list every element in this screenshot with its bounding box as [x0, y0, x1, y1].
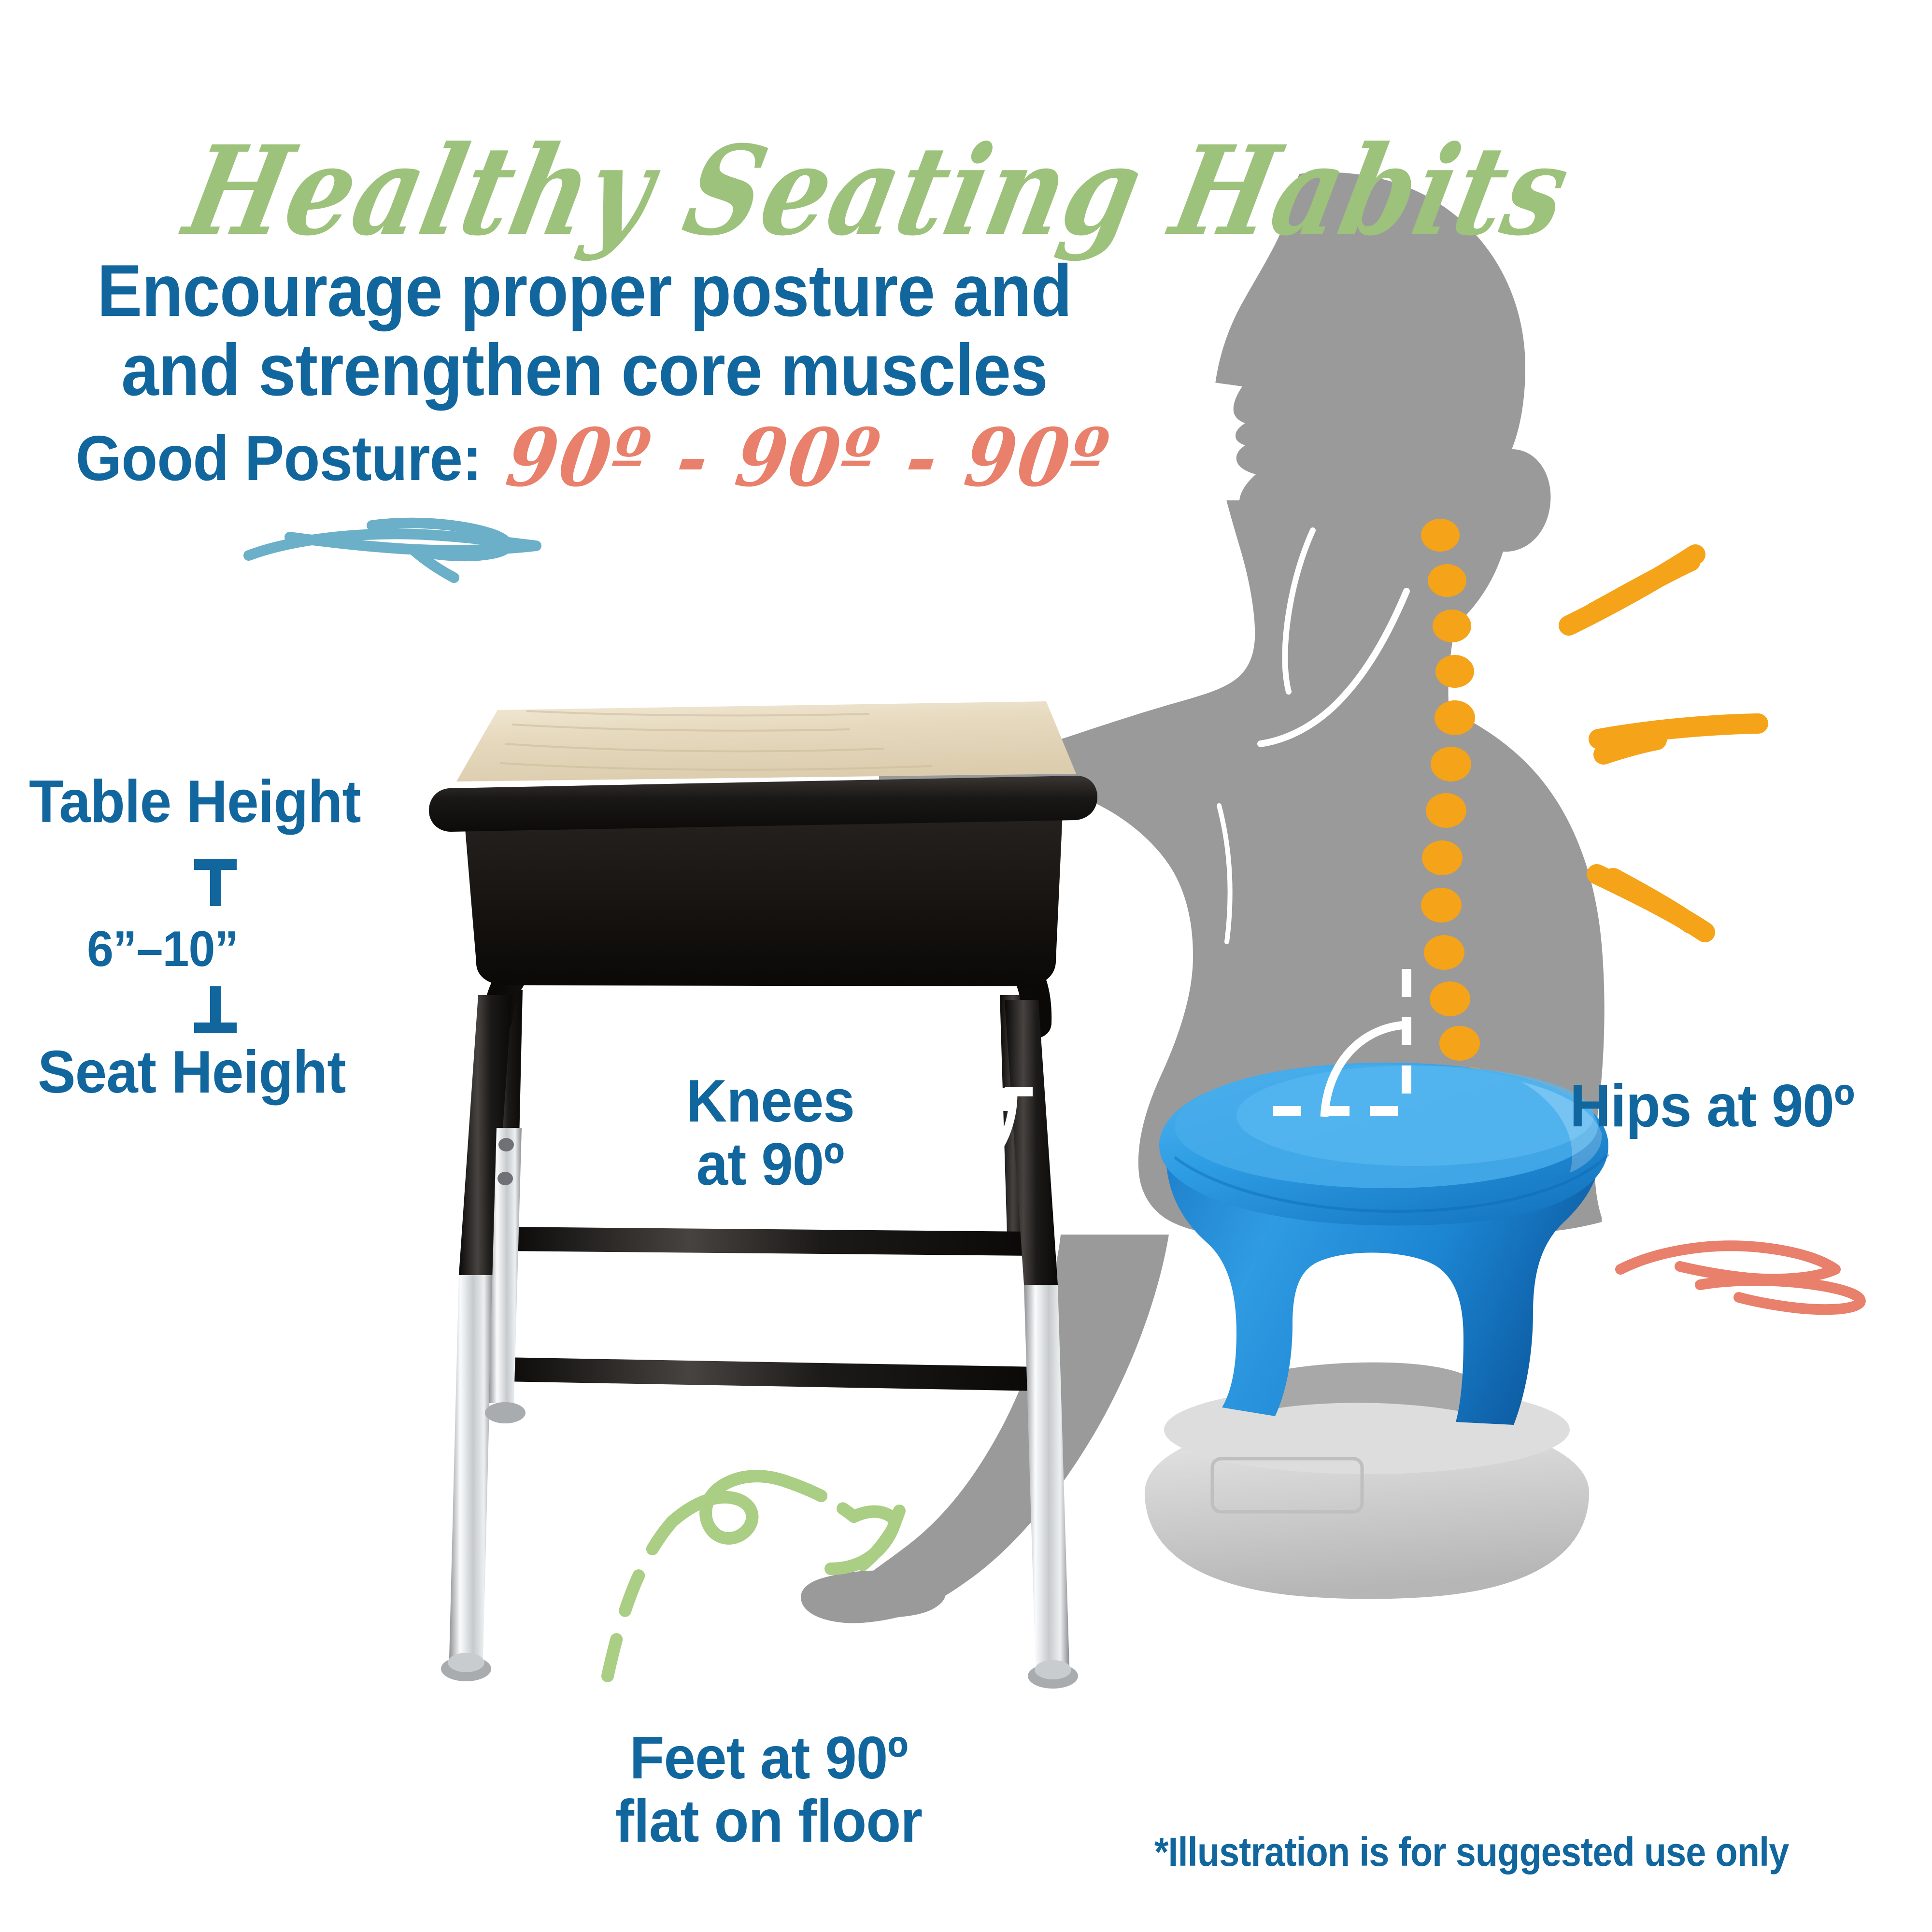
good-posture-angles: 90º - 90º - 90º	[501, 411, 1115, 505]
desk-glide-right	[1028, 1663, 1078, 1689]
desk-leg-front-right	[1005, 1000, 1058, 1285]
desk-book-box	[464, 811, 1063, 986]
salmon-squiggle-under-hips	[1620, 1246, 1861, 1309]
hips-angle-label: Hips at 90º	[1570, 1075, 1854, 1138]
knees-label-line-2: at 90º	[674, 1133, 867, 1196]
energy-strokes	[1569, 554, 1758, 932]
knees-label-line-1: Knees	[674, 1070, 867, 1133]
table-height-label: Table Height	[29, 770, 361, 834]
good-posture-label: Good Posture:	[75, 422, 481, 495]
energy-stroke-1	[1569, 554, 1695, 625]
feet-label-line-1: Feet at 90º	[599, 1727, 938, 1790]
subtitle: Encourage proper posture and and strengt…	[47, 251, 1122, 410]
desk-leg-back-right	[1000, 995, 1037, 1251]
desk-leg-back-left	[487, 990, 523, 1246]
knees-90-marker	[956, 1092, 1077, 1203]
feet-angle-label: Feet at 90º flat on floor	[599, 1727, 938, 1854]
blue-squiggle-under-good-posture	[249, 523, 536, 578]
height-difference-value: 6”–10”	[87, 923, 238, 976]
knees-angle-label: Knees at 90º	[674, 1070, 867, 1197]
spine-dots	[1421, 519, 1492, 1102]
stool-seat	[1159, 1063, 1608, 1225]
seat-height-label: Seat Height	[38, 1041, 346, 1104]
green-curved-arrow-to-foot	[608, 1476, 899, 1676]
desk-glide-left	[441, 1656, 491, 1681]
hips-90-marker	[1273, 969, 1406, 1117]
desk-leg-front-left	[459, 995, 512, 1275]
desk-top	[456, 701, 1076, 781]
page-title: Healthy Seating Habits	[177, 129, 1579, 252]
energy-stroke-3	[1597, 874, 1705, 932]
subtitle-line-1: Encourage proper posture and	[47, 251, 1122, 330]
good-posture-row: Good Posture:90º - 90º - 90º	[0, 415, 1169, 500]
stool-base	[1145, 1415, 1589, 1599]
feet-label-line-2: flat on floor	[599, 1790, 938, 1853]
desk-leg-chrome-right	[1024, 1285, 1069, 1666]
desk-edge-band	[429, 776, 1097, 832]
subtitle-line-2: and strengthen core muscles	[47, 330, 1122, 410]
energy-stroke-2	[1599, 724, 1758, 754]
infographic-canvas: Healthy Seating Habits Encourage proper …	[0, 0, 1932, 1932]
wobble-stool	[1145, 1063, 1608, 1599]
disclaimer-note: *Illustration is for suggested use only	[1154, 1831, 1789, 1874]
desk-leg-chrome-left	[449, 1275, 493, 1659]
stool-body	[1166, 1145, 1602, 1425]
